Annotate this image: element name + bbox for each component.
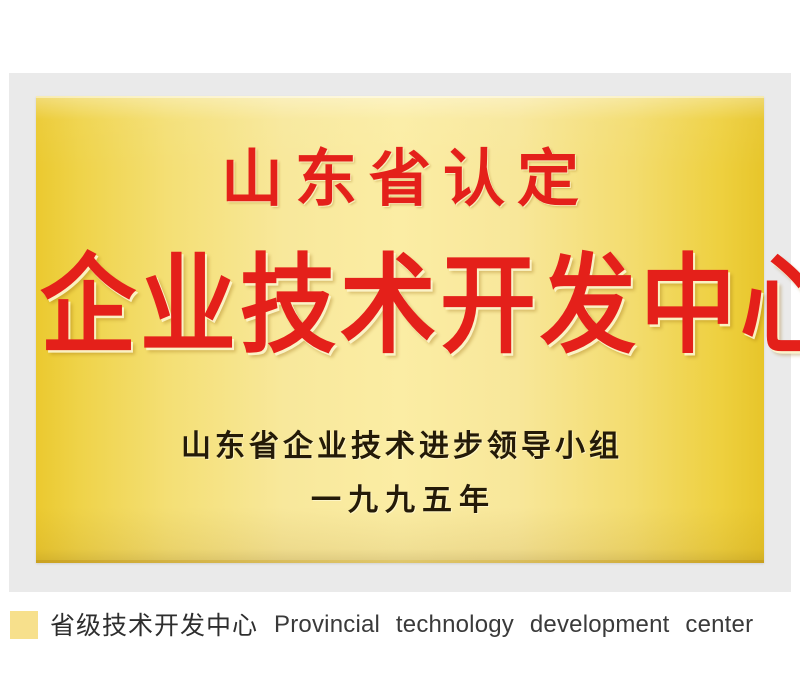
- plaque-main-title: 企业技术开发中心: [36, 252, 764, 360]
- plaque-certifier-line: 山东省认定: [36, 148, 764, 210]
- caption-row: 省级技术开发中心 Provincial technology developme…: [0, 600, 800, 650]
- caption-color-swatch: [10, 611, 38, 639]
- caption-chinese-label: 省级技术开发中心: [50, 613, 258, 638]
- plaque-year-line: 一九九五年: [36, 486, 764, 516]
- caption-english-label: Provincial technology development center: [274, 613, 753, 637]
- plaque-issuer-line: 山东省企业技术进步领导小组: [36, 432, 764, 462]
- image-stage: 山东省认定 企业技术开发中心 山东省企业技术进步领导小组 一九九五年 省级技术开…: [0, 0, 800, 697]
- award-plaque: 山东省认定 企业技术开发中心 山东省企业技术进步领导小组 一九九五年: [36, 96, 764, 563]
- plaque-text-content: 山东省认定 企业技术开发中心 山东省企业技术进步领导小组 一九九五年: [36, 96, 764, 563]
